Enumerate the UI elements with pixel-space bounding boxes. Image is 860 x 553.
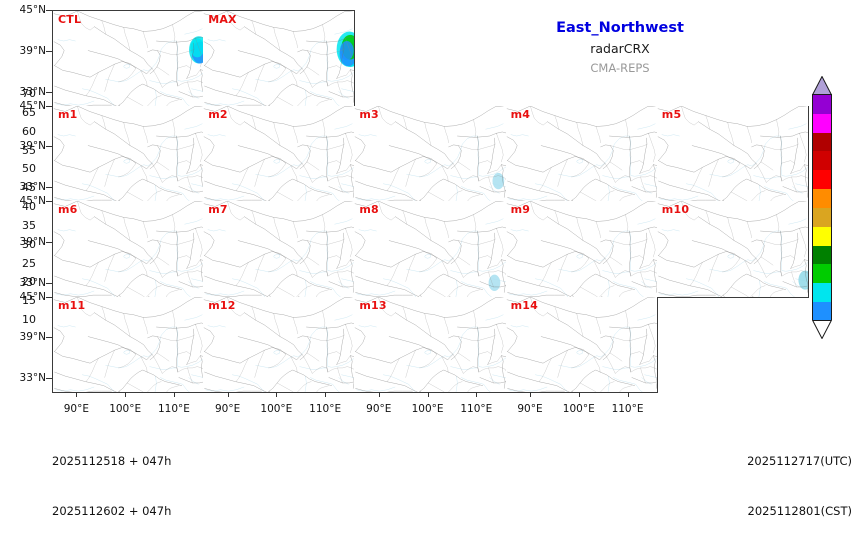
latitude-tick-label: 45°N (4, 5, 46, 16)
colorbar-segment (813, 189, 831, 208)
map-panel-m4[interactable]: m4 (506, 106, 658, 203)
colorbar-tick-label: 20 (22, 276, 36, 287)
longitude-tick-mark (228, 392, 229, 397)
figure-root: East_Northwest radarCRX CMA-REPS CTLMAXm… (0, 0, 860, 456)
latitude-tick-mark (46, 10, 52, 11)
longitude-tick-mark (530, 392, 531, 397)
colorbar-tick-label: 65 (22, 107, 36, 118)
footer-right-line2: 2025112801(CST) (747, 503, 852, 520)
panel-label: m7 (208, 204, 228, 215)
longitude-tick-label: 100°E (101, 404, 149, 415)
panel-label: CTL (58, 14, 81, 25)
colorbar-segment (813, 302, 831, 321)
colorbar-segment (813, 264, 831, 283)
colorbar-tick-label: 15 (22, 295, 36, 306)
longitude-tick-mark (628, 392, 629, 397)
colorbar-tick-label: 50 (22, 163, 36, 174)
footer-left-line2: 2025112602 + 047h (52, 503, 171, 520)
map-panel-m11[interactable]: m11 (52, 297, 205, 394)
colorbar-tick-label: 30 (22, 239, 36, 250)
latitude-tick-label: 33°N (4, 373, 46, 384)
longitude-tick-label: 100°E (555, 404, 603, 415)
longitude-tick-mark (174, 392, 175, 397)
footer-left: 2025112518 + 047h 2025112602 + 047h (52, 420, 171, 553)
colorbar-segment (813, 208, 831, 227)
longitude-tick-mark (476, 392, 477, 397)
colorbar-tick-label: 60 (22, 126, 36, 137)
panel-label: m1 (58, 109, 78, 120)
longitude-tick-mark (76, 392, 77, 397)
map-panel-m2[interactable]: m2 (203, 106, 355, 203)
colorbar-tick-label: 55 (22, 145, 36, 156)
panel-label: m6 (58, 204, 78, 215)
panel-label: m2 (208, 109, 228, 120)
panel-label: m9 (511, 204, 531, 215)
map-panel-m14[interactable]: m14 (506, 297, 658, 394)
longitude-tick-label: 90°E (506, 404, 554, 415)
longitude-tick-label: 90°E (204, 404, 252, 415)
longitude-tick-label: 90°E (52, 404, 100, 415)
map-panel-m1[interactable]: m1 (52, 106, 205, 203)
longitude-tick-mark (428, 392, 429, 397)
map-panel-m6[interactable]: m6 (52, 201, 205, 298)
map-panel-m13[interactable]: m13 (354, 297, 506, 394)
map-panel-m5[interactable]: m5 (657, 106, 809, 203)
longitude-tick-mark (379, 392, 380, 397)
colorbar-segment (813, 283, 831, 302)
colorbar-tick-label: 10 (22, 314, 36, 325)
colorbar-tick-label: 45 (22, 182, 36, 193)
panel-label: m12 (208, 300, 235, 311)
longitude-tick-label: 110°E (604, 404, 652, 415)
panel-label: m8 (359, 204, 379, 215)
panel-label: m13 (359, 300, 386, 311)
footer-right: 2025112717(UTC) 2025112801(CST) (747, 420, 852, 553)
map-panel-m3[interactable]: m3 (354, 106, 506, 203)
map-panel-m9[interactable]: m9 (506, 201, 658, 298)
colorbar-segment (813, 95, 831, 114)
longitude-tick-label: 110°E (150, 404, 198, 415)
latitude-tick-mark (46, 378, 52, 379)
colorbar-tick-label: 70 (22, 88, 36, 99)
colorbar-segment (813, 151, 831, 170)
panel-label: m14 (511, 300, 538, 311)
map-panel-ctl[interactable]: CTL (52, 10, 205, 108)
latitude-tick-mark (46, 51, 52, 52)
panel-label: m3 (359, 109, 379, 120)
panel-label: MAX (208, 14, 237, 25)
panel-grid: CTLMAXm1m2m3m4m5m6m7m8m9m10m11m12m13m14 (52, 10, 808, 392)
colorbar-top-arrow (812, 76, 832, 95)
panel-label: m10 (662, 204, 689, 215)
longitude-tick-label: 110°E (452, 404, 500, 415)
colorbar-tick-label: 25 (22, 258, 36, 269)
colorbar-segment (813, 227, 831, 246)
colorbar-segment (813, 133, 831, 152)
map-panel-max[interactable]: MAX (203, 10, 355, 108)
colorbar-bottom-arrow (812, 320, 832, 339)
panel-label: m4 (511, 109, 531, 120)
longitude-tick-mark (325, 392, 326, 397)
panel-label: m5 (662, 109, 682, 120)
longitude-tick-mark (276, 392, 277, 397)
map-panel-m10[interactable]: m10 (657, 201, 809, 298)
map-panel-m8[interactable]: m8 (354, 201, 506, 298)
longitude-tick-label: 110°E (301, 404, 349, 415)
colorbar-segment (813, 114, 831, 133)
longitude-tick-label: 100°E (252, 404, 300, 415)
colorbar-tick-label: 40 (22, 201, 36, 212)
colorbar-segment (813, 170, 831, 189)
latitude-tick-label: 39°N (4, 46, 46, 57)
colorbar-body (812, 94, 832, 320)
longitude-tick-label: 90°E (355, 404, 403, 415)
colorbar-segment (813, 246, 831, 265)
colorbar-tick-labels: 70656055504540353025201510 (22, 76, 52, 338)
colorbar (812, 76, 832, 338)
map-panel-m12[interactable]: m12 (203, 297, 355, 394)
map-panel-m7[interactable]: m7 (203, 201, 355, 298)
longitude-tick-label: 100°E (404, 404, 452, 415)
longitude-tick-mark (579, 392, 580, 397)
longitude-tick-mark (125, 392, 126, 397)
panel-label: m11 (58, 300, 85, 311)
colorbar-tick-label: 35 (22, 220, 36, 231)
